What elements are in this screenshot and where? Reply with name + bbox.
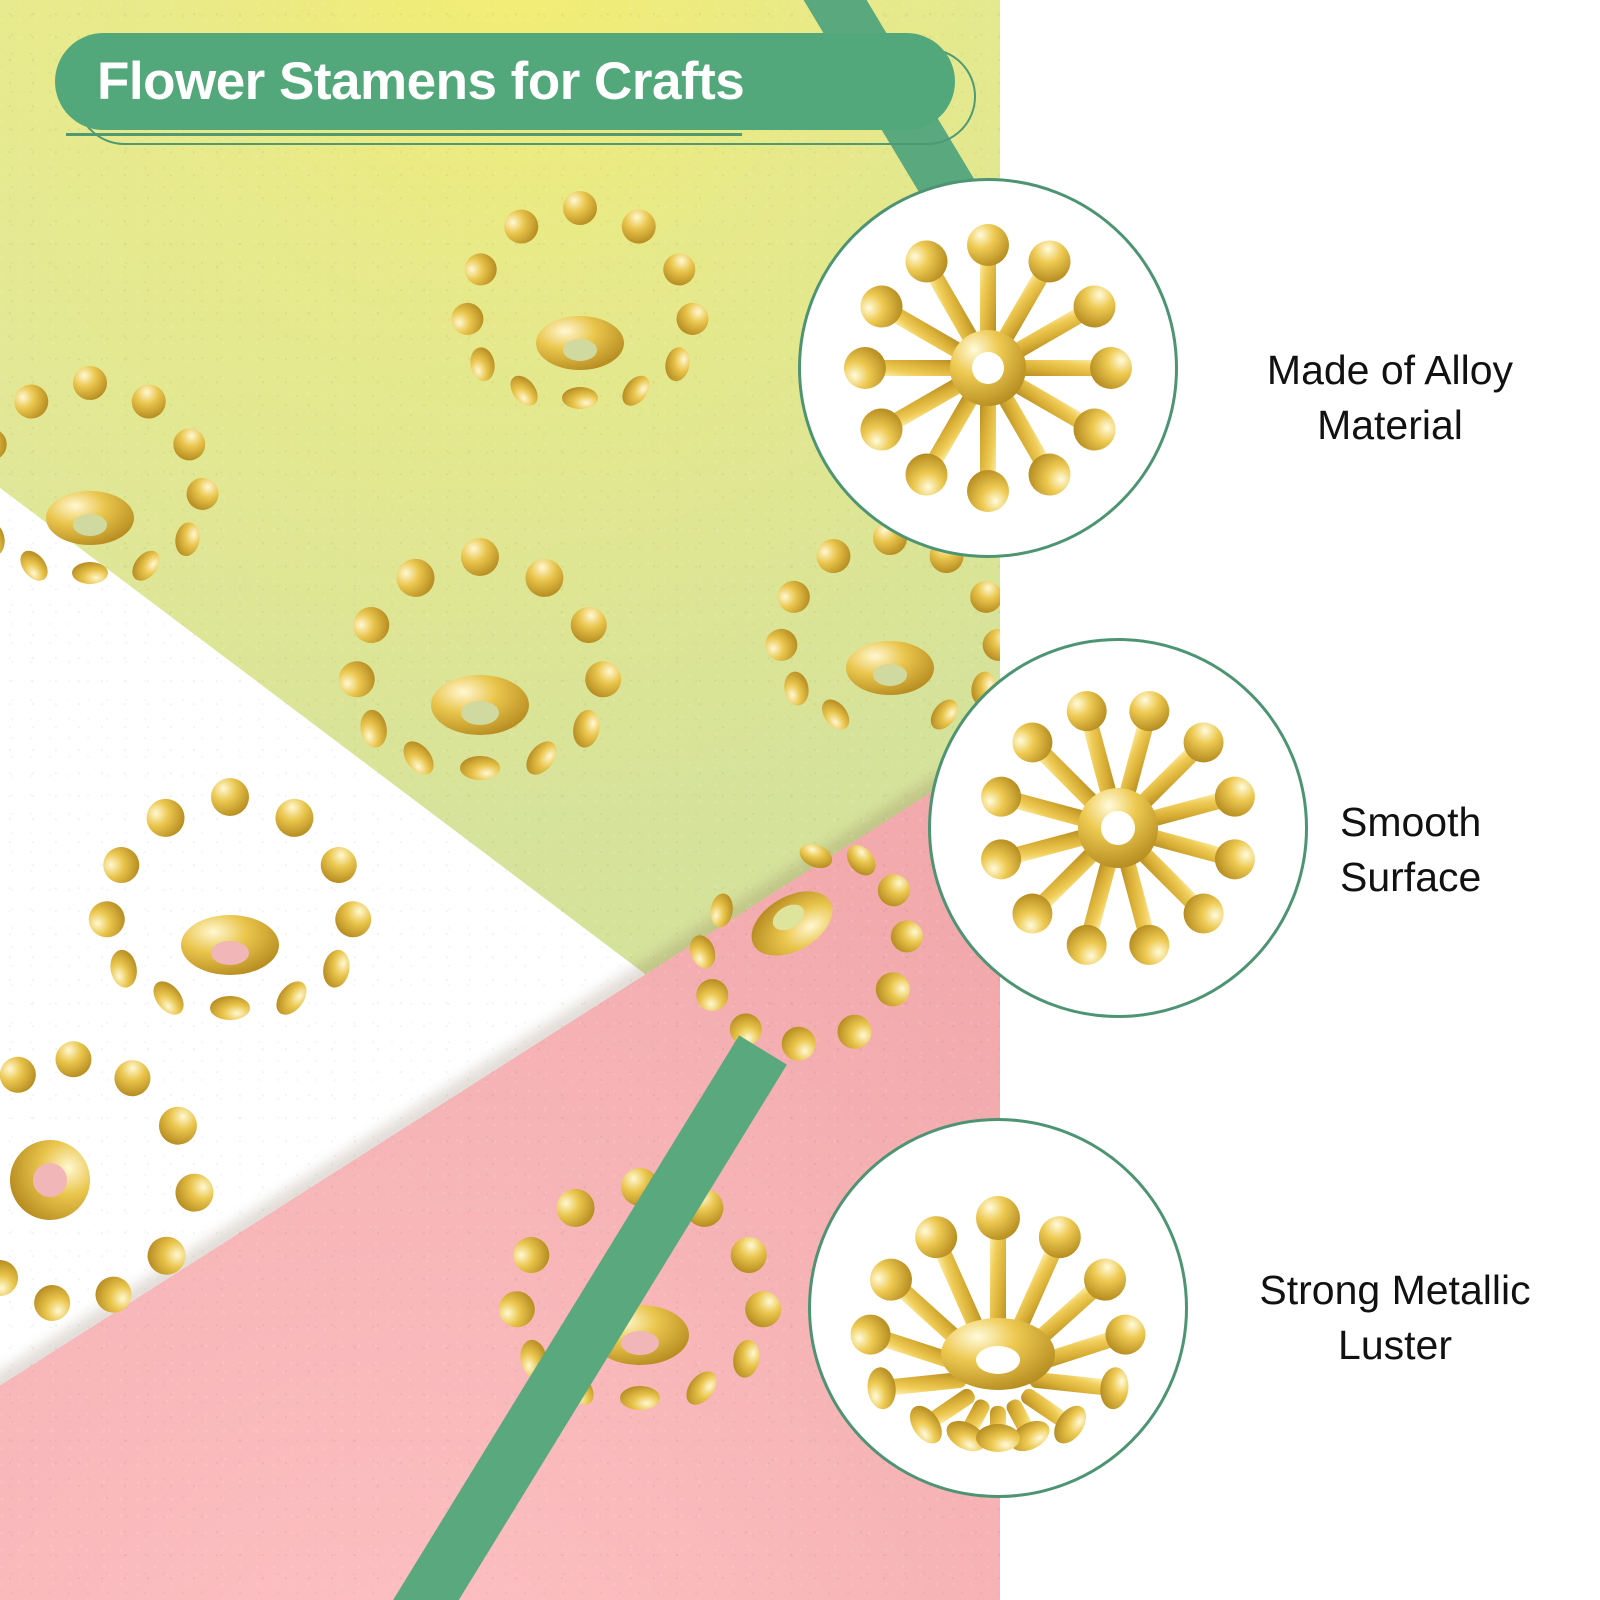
feature-label-smooth-surface: Smooth Surface	[1340, 795, 1590, 906]
feature-label-made-of-alloy-material: Made of Alloy Material	[1205, 343, 1575, 454]
feature-circle-smooth-surface	[928, 638, 1308, 1018]
stamen-top-down-icon	[953, 663, 1283, 993]
stamen-photo-item	[0, 1060, 210, 1300]
feature-circle-strong-metallic-luster	[808, 1118, 1188, 1498]
infographic-page: Made of Alloy Material Smooth Surface St…	[0, 0, 1600, 1600]
feature-label-strong-metallic-luster: Strong Metallic Luster	[1205, 1263, 1585, 1374]
feature-circle-made-of-alloy-material	[798, 178, 1178, 558]
stamen-top-down-icon	[823, 203, 1153, 533]
stamen-perspective-icon	[828, 1158, 1168, 1458]
stamen-photo-item	[640, 800, 940, 1015]
stamen-photo-item	[70, 760, 390, 1000]
stamen-photo-item	[0, 350, 240, 565]
stamen-photo-item	[430, 175, 730, 390]
title-underline	[66, 133, 742, 136]
page-title: Flower Stamens for Crafts	[97, 51, 744, 112]
title-banner: Flower Stamens for Crafts	[55, 33, 955, 130]
stamen-photo-item	[320, 520, 640, 760]
